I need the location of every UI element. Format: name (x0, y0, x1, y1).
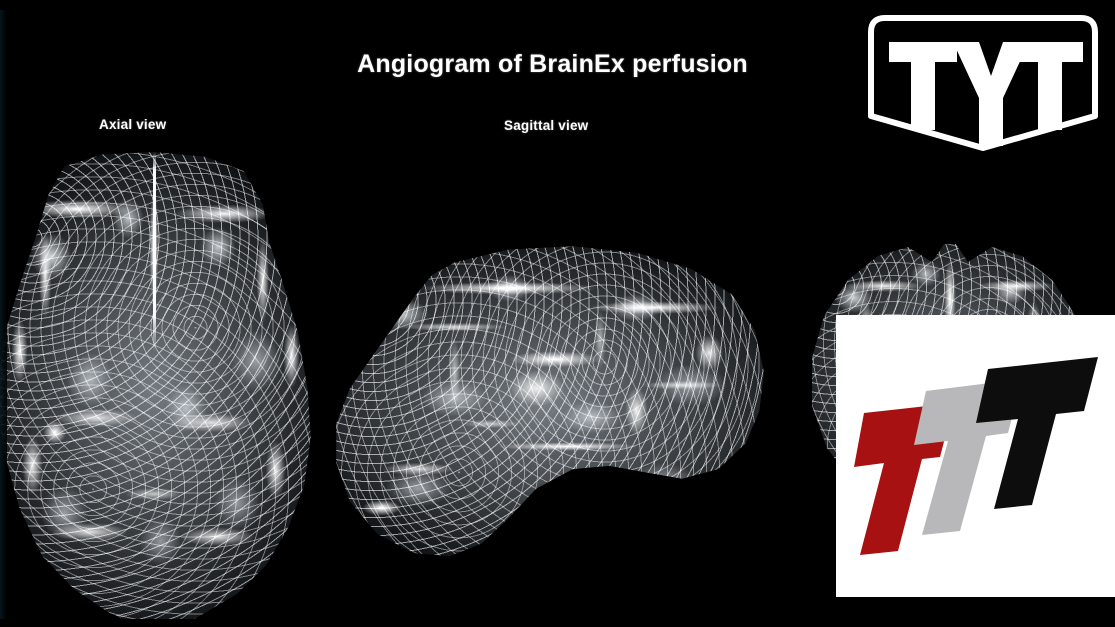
tyt-badge-icon (857, 6, 1109, 158)
angiogram-axial (0, 152, 314, 627)
tyt-logo (857, 6, 1109, 158)
video-frame: Angiogram of BrainEx perfusion Axial vie… (0, 0, 1115, 627)
letterbox-top (0, 0, 1115, 10)
letterbox-bottom (0, 619, 1115, 627)
video-left-edge-tint (0, 0, 7, 627)
axial-cortical-vessels (0, 152, 314, 627)
panel-label-axial: Axial view (99, 117, 166, 132)
ttt-logo-icon (836, 315, 1115, 597)
sagittal-fine-vessels (318, 243, 773, 566)
angiogram-sagittal (318, 243, 773, 566)
panel-label-sagittal: Sagittal view (504, 118, 588, 133)
axial-brain-render (0, 152, 314, 627)
ttt-watermark-logo (836, 315, 1115, 597)
sagittal-brain-render (318, 243, 773, 566)
